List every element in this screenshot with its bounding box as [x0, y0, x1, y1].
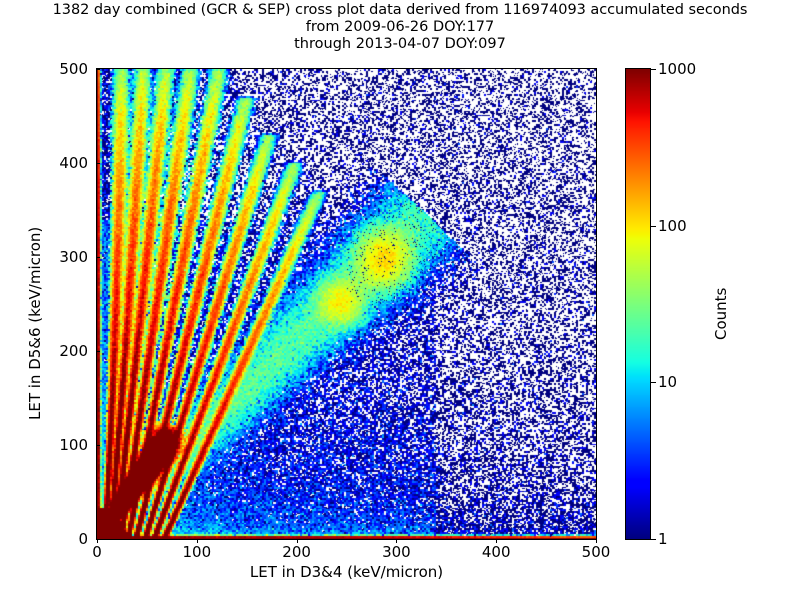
x-tick-label: 500 — [582, 543, 611, 561]
colorbar-tick-label: 10 — [658, 373, 677, 391]
y-tick-mark — [96, 257, 100, 258]
y-tick-label: 100 — [44, 436, 88, 454]
y-tick-mark — [96, 69, 100, 70]
y-tick-mark — [96, 445, 100, 446]
colorbar-gradient — [626, 69, 650, 539]
x-tick-label: 400 — [482, 543, 511, 561]
figure-title-line-2: from 2009-06-26 DOY:177 — [0, 19, 800, 36]
x-tick-label: 200 — [282, 543, 311, 561]
colorbar-tick-label: 1 — [658, 530, 668, 548]
y-axis-label: LET in D5&6 (keV/micron) — [26, 227, 44, 420]
y-tick-label: 200 — [44, 342, 88, 360]
y-tick-label: 400 — [44, 154, 88, 172]
colorbar-tick-mark — [651, 382, 656, 383]
figure-title-line-1: 1382 day combined (GCR & SEP) cross plot… — [0, 2, 800, 19]
figure-canvas: 1382 day combined (GCR & SEP) cross plot… — [0, 0, 800, 600]
x-tick-label: 300 — [382, 543, 411, 561]
x-tick-label: 100 — [182, 543, 211, 561]
colorbar-tick-mark — [651, 226, 656, 227]
heatmap-scatter-canvas — [97, 69, 596, 539]
y-tick-label: 500 — [44, 60, 88, 78]
colorbar-tick-label: 1000 — [658, 60, 696, 78]
y-tick-mark — [96, 539, 100, 540]
y-tick-mark — [96, 351, 100, 352]
figure-title-line-3: through 2013-04-07 DOY:097 — [0, 36, 800, 53]
plot-area — [96, 68, 597, 540]
y-tick-mark — [96, 163, 100, 164]
x-tick-label: 0 — [92, 543, 102, 561]
colorbar-tick-label: 100 — [658, 217, 687, 235]
colorbar-tick-mark — [651, 539, 656, 540]
y-tick-label: 300 — [44, 248, 88, 266]
figure-title: 1382 day combined (GCR & SEP) cross plot… — [0, 2, 800, 53]
y-tick-label: 0 — [44, 530, 88, 548]
colorbar-label: Counts — [712, 288, 730, 340]
x-axis-label: LET in D3&4 (keV/micron) — [96, 563, 597, 581]
colorbar-tick-mark — [651, 69, 656, 70]
colorbar — [625, 68, 651, 540]
